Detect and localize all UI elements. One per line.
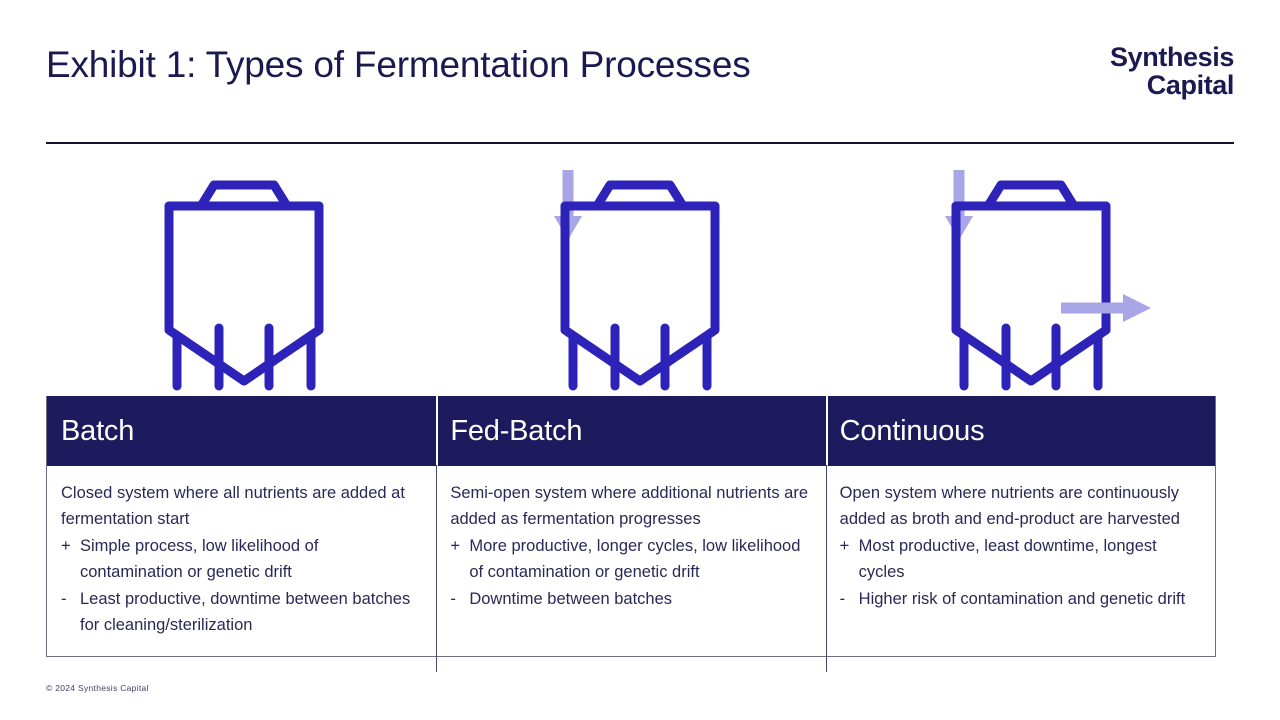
table-cell-continuous: Open system where nutrients are continuo…: [826, 466, 1215, 656]
synthesis-capital-logo: Synthesis Capital: [1110, 44, 1234, 99]
column-header-continuous: Continuous: [826, 396, 1215, 466]
list-item: + Simple process, low likelihood of cont…: [61, 533, 424, 586]
list-item: + More productive, longer cycles, low li…: [450, 533, 813, 586]
diagram-cell-continuous: [838, 158, 1234, 393]
logo-line-1: Synthesis: [1110, 44, 1234, 72]
title-divider: [46, 142, 1234, 144]
bullet-text: Simple process, low likelihood of contam…: [80, 537, 318, 581]
cell-bullet-list: + Simple process, low likelihood of cont…: [61, 533, 424, 639]
cell-description: Closed system where all nutrients are ad…: [61, 480, 424, 533]
bullet-text: Least productive, downtime between batch…: [80, 590, 410, 634]
diagram-cell-batch: [46, 158, 442, 393]
list-item: - Least productive, downtime between bat…: [61, 586, 424, 639]
bullet-text: More productive, longer cycles, low like…: [469, 537, 800, 581]
cell-description: Open system where nutrients are continuo…: [840, 480, 1203, 533]
footer-copyright: © 2024 Synthesis Capital: [46, 683, 149, 693]
fermentation-comparison-table: Batch Fed-Batch Continuous Closed system…: [46, 396, 1216, 657]
slide: Exhibit 1: Types of Fermentation Process…: [0, 0, 1280, 720]
list-item: + Most productive, least downtime, longe…: [840, 533, 1203, 586]
table-header-row: Batch Fed-Batch Continuous: [47, 396, 1215, 466]
batch-vessel-icon: [139, 168, 349, 393]
bullet-marker: +: [840, 533, 850, 559]
bullet-text: Downtime between batches: [469, 590, 672, 608]
table-body-row: Closed system where all nutrients are ad…: [47, 466, 1215, 656]
bullet-marker: +: [450, 533, 460, 559]
diagram-cell-fed-batch: [442, 158, 838, 393]
list-item: - Downtime between batches: [450, 586, 813, 612]
bullet-marker: +: [61, 533, 71, 559]
list-item: - Higher risk of contamination and genet…: [840, 586, 1203, 612]
table-cell-fed-batch: Semi-open system where additional nutrie…: [436, 466, 825, 656]
cell-bullet-list: + Most productive, least downtime, longe…: [840, 533, 1203, 612]
page-title: Exhibit 1: Types of Fermentation Process…: [46, 44, 751, 86]
bullet-marker: -: [840, 586, 846, 612]
table-cell-batch: Closed system where all nutrients are ad…: [47, 466, 436, 656]
cell-description: Semi-open system where additional nutrie…: [450, 480, 813, 533]
bullet-marker: -: [61, 586, 67, 612]
fed-batch-vessel-icon: [535, 168, 745, 393]
bullet-text: Most productive, least downtime, longest…: [859, 537, 1157, 581]
bullet-marker: -: [450, 586, 456, 612]
continuous-vessel-icon: [911, 168, 1161, 393]
bullet-text: Higher risk of contamination and genetic…: [859, 590, 1186, 608]
cell-bullet-list: + More productive, longer cycles, low li…: [450, 533, 813, 612]
diagram-row: [46, 158, 1234, 393]
logo-line-2: Capital: [1110, 72, 1234, 100]
column-header-fed-batch: Fed-Batch: [436, 396, 825, 466]
column-header-batch: Batch: [47, 396, 436, 466]
